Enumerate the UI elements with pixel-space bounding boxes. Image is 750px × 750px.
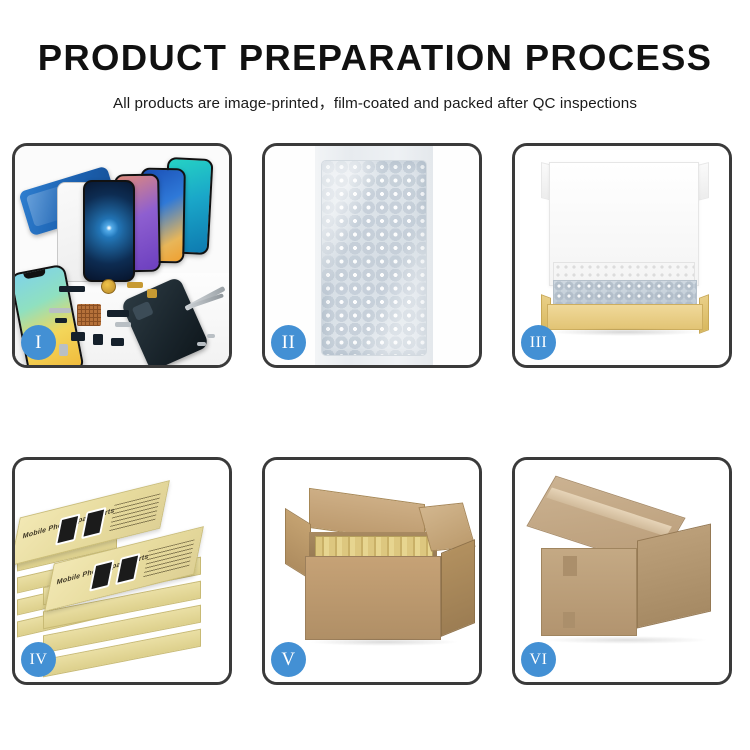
carton-front-icon [305, 556, 441, 640]
step-panel-3: III [512, 143, 732, 368]
flex-connector-icon [147, 289, 157, 298]
screw-icon [197, 342, 206, 346]
carton-front-icon [541, 548, 637, 636]
step-badge-5: V [271, 642, 306, 677]
carton-shadow [543, 636, 709, 644]
screw-2-icon [207, 334, 215, 338]
step-badge-6: VI [521, 642, 556, 677]
chip-part-icon [59, 286, 85, 292]
step-panel-2: II [262, 143, 482, 368]
vibrator-part-icon [111, 338, 124, 346]
product-preparation-infographic: PRODUCT PREPARATION PROCESS All products… [0, 0, 750, 750]
flex-cable-icon [127, 282, 143, 288]
box-window-1-icon [89, 559, 115, 591]
carton-right-side-icon [441, 539, 475, 637]
step-badge-4: IV [21, 642, 56, 677]
step-badge-2: II [271, 325, 306, 360]
step-panel-5: V [262, 457, 482, 685]
page-subtitle: All products are image-printed，film-coat… [0, 77, 750, 113]
camera-flex-icon [107, 310, 129, 317]
ic-part-icon [71, 332, 85, 341]
step-panel-1: I [12, 143, 232, 368]
carton-side-icon [637, 523, 711, 628]
shield-part-icon [115, 322, 131, 327]
carton-tab-top-icon [563, 556, 577, 576]
speaker-part-icon [101, 279, 116, 294]
box-spec-lines-icon [109, 493, 161, 532]
step-panel-4: Mobile Phone Spare Parts Mobile Phone Sp… [12, 457, 232, 685]
bubble-wrapped-product-icon [553, 280, 697, 306]
phone-screen-dark-icon [83, 180, 135, 282]
page-title: PRODUCT PREPARATION PROCESS [0, 0, 750, 77]
kraft-box-front-icon [547, 304, 703, 330]
sim-tray-icon [59, 344, 68, 356]
contact-pads-icon [77, 304, 101, 326]
step-badge-3: III [521, 325, 556, 360]
carton-shadow [309, 638, 459, 646]
box-spec-lines-icon [143, 539, 195, 578]
box-window-1-icon [55, 513, 81, 545]
small-chip-icon [55, 318, 67, 323]
battery-connector-icon [93, 334, 103, 345]
header: PRODUCT PREPARATION PROCESS All products… [0, 0, 750, 113]
step-panel-6: VI [512, 457, 732, 685]
box-window-2-icon [81, 507, 107, 539]
box-shadow [549, 328, 701, 336]
bracket-part-icon [49, 308, 71, 313]
bubble-wrap-icon [321, 160, 427, 356]
carton-tab-bottom-icon [563, 612, 575, 628]
step-badge-1: I [21, 325, 56, 360]
box-window-2-icon [115, 553, 141, 585]
